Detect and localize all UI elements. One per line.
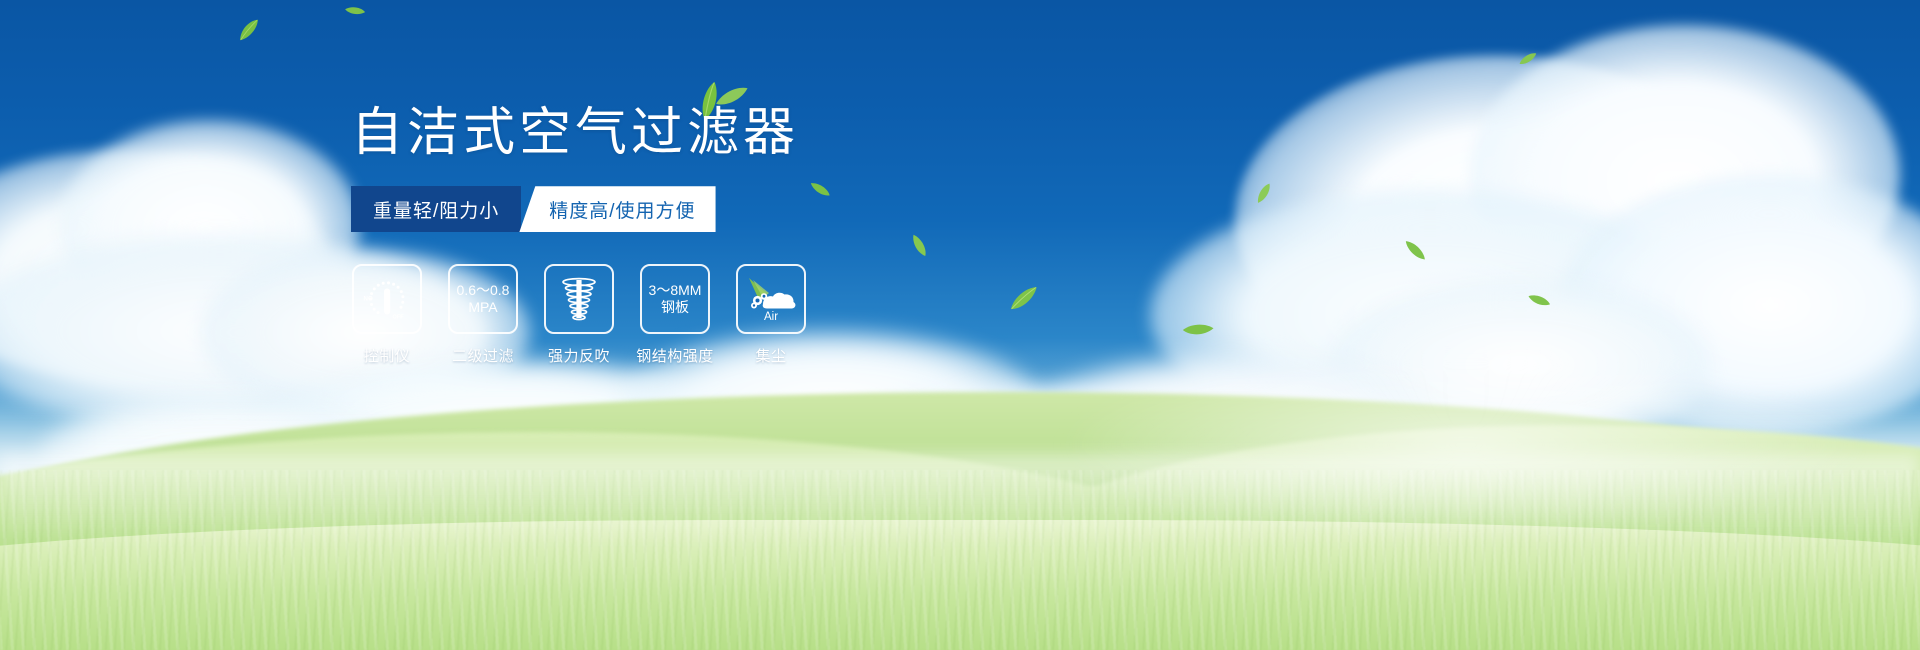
feature-icon-box: 0.6～0.8 MPA: [448, 264, 518, 334]
filter-coil-icon: [556, 274, 602, 324]
feature-label: 二级过滤: [452, 345, 514, 366]
feature-label: 集尘: [755, 345, 786, 366]
leaf-icon: [1526, 289, 1552, 312]
feature-label: 钢结构强度: [636, 345, 714, 366]
feature-text-line1: 0.6～0.8: [457, 282, 510, 298]
feature-list: NO OFF 控制仪 0.6～0.8 MPA 二级过滤: [351, 264, 911, 366]
feature-text-line2: MPA: [457, 299, 510, 316]
leaf-icon: [1403, 236, 1428, 265]
feature-text-line1: 3～8MM: [649, 282, 702, 298]
leaf-icon: [1005, 283, 1043, 313]
feature-label: 强力反吹: [548, 345, 610, 366]
feature-item-dust-collection[interactable]: Air 集尘: [735, 264, 807, 366]
feature-item-controller[interactable]: NO OFF 控制仪: [351, 264, 423, 366]
svg-text:OFF: OFF: [393, 315, 405, 321]
leaf-icon: [1181, 320, 1215, 339]
hero-banner: 自洁式空气过滤器 重量轻/阻力小 精度高/使用方便: [0, 0, 1920, 650]
feature-label: 控制仪: [364, 345, 411, 366]
leaves-layer: [0, 0, 1920, 650]
feature-icon-box: NO OFF: [352, 264, 422, 334]
feature-icon-box: Air: [736, 264, 806, 334]
feature-icon-box: 3～8MM 钢板: [640, 264, 710, 334]
tab-lightweight-low-resistance[interactable]: 重量轻/阻力小: [351, 186, 521, 232]
feature-item-strong-backblow[interactable]: 强力反吹: [543, 264, 615, 366]
page-title: 自洁式空气过滤器: [351, 104, 799, 162]
feature-item-steel-strength[interactable]: 3～8MM 钢板 钢结构强度: [639, 264, 711, 366]
feature-text-line2: 钢板: [649, 299, 702, 316]
tab-high-precision-easy-use[interactable]: 精度高/使用方便: [519, 186, 715, 232]
tab-group: 重量轻/阻力小 精度高/使用方便: [351, 186, 911, 232]
pressure-text-icon: 0.6～0.8 MPA: [457, 282, 510, 316]
dust-cloud-icon: Air: [743, 274, 799, 324]
svg-text:NO: NO: [364, 296, 373, 303]
leaf-icon: [910, 232, 927, 259]
feature-icon-box: [544, 264, 614, 334]
leaf-icon: [1517, 51, 1539, 66]
leaf-icon: [1252, 182, 1276, 206]
feature-item-two-stage-filtration[interactable]: 0.6～0.8 MPA 二级过滤: [447, 264, 519, 366]
leaf-icon: [343, 3, 366, 20]
gauge-dial-icon: NO OFF: [360, 274, 414, 324]
banner-content: 自洁式空气过滤器 重量轻/阻力小 精度高/使用方便: [351, 104, 911, 366]
leaf-icon: [234, 17, 264, 44]
steel-plate-text-icon: 3～8MM 钢板: [649, 282, 702, 316]
title-wrap: 自洁式空气过滤器: [351, 104, 799, 162]
feature-text-line1: Air: [764, 311, 778, 323]
